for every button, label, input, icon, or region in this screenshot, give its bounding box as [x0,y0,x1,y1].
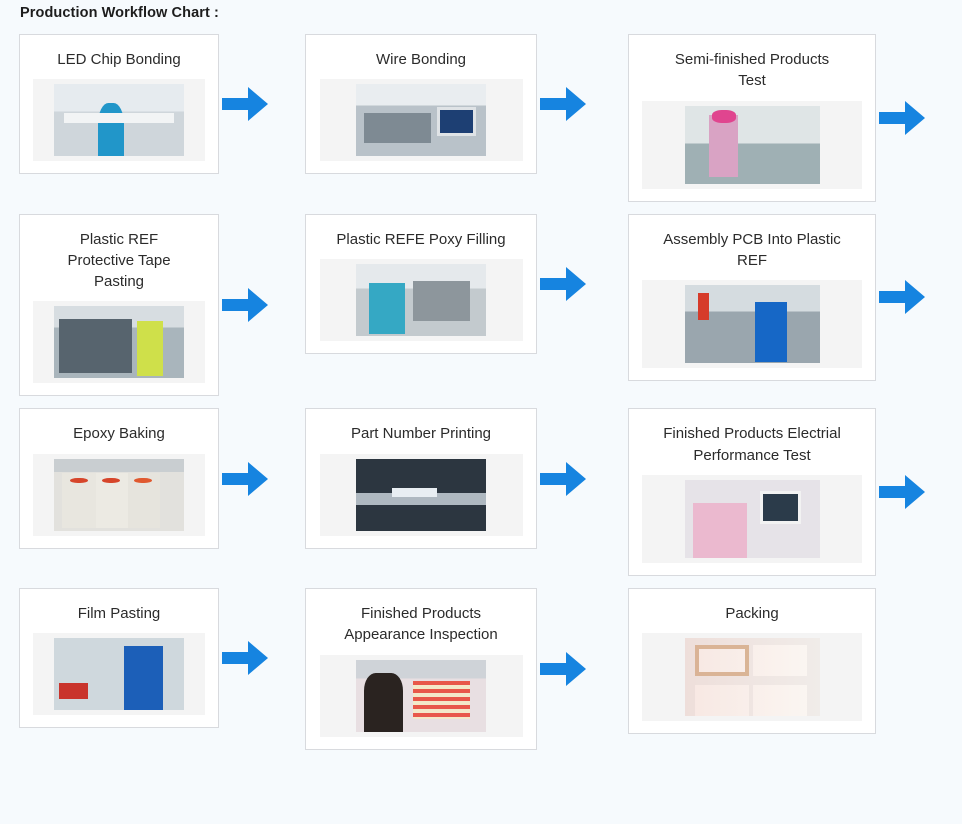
process-photo-appearance-inspection [356,660,486,732]
step-label: Finished Products Electrial Performance … [655,423,849,466]
step-card[interactable]: Semi-finished Products Test [628,34,876,202]
step-thumbnail [320,655,523,737]
workflow-step[interactable]: Epoxy Baking [0,408,300,548]
arrow-right-icon [537,457,589,501]
workflow-step[interactable]: Finished Products Appearance Inspection [300,588,620,750]
workflow-step[interactable]: Wire Bonding [300,34,620,174]
arrow-right-icon [219,636,271,680]
step-label: Plastic REF Protective Tape Pasting [59,229,178,293]
arrow-right-icon [876,96,928,140]
step-card[interactable]: Packing [628,588,876,734]
step-thumbnail [320,454,523,536]
step-thumbnail [320,259,523,341]
process-photo-epoxy-filling [356,264,486,336]
step-thumbnail [33,301,205,383]
step-thumbnail [33,633,205,715]
workflow-chart: LED Chip Bonding Wire Bonding Se [0,34,962,762]
step-thumbnail [642,101,862,189]
arrow-right-icon [219,457,271,501]
step-card[interactable]: Film Pasting [19,588,219,728]
step-card[interactable]: Finished Products Appearance Inspection [305,588,537,750]
process-photo-protective-tape-pasting [54,306,184,378]
process-photo-electrical-performance-test [685,480,820,558]
step-thumbnail [642,280,862,368]
step-label: LED Chip Bonding [49,49,188,70]
arrow-right-icon [537,262,589,306]
step-card[interactable]: Assembly PCB Into Plastic REF [628,214,876,382]
process-photo-epoxy-baking [54,459,184,531]
step-label: Finished Products Appearance Inspection [336,603,505,646]
arrow-right-icon [537,82,589,126]
workflow-step[interactable]: Plastic REFE Poxy Filling [300,214,620,354]
step-card[interactable]: Wire Bonding [305,34,537,174]
arrow-right-icon [876,470,928,514]
workflow-step[interactable]: Packing [620,588,962,734]
step-label: Epoxy Baking [65,423,173,444]
arrow-right-icon [537,647,589,691]
arrow-right-icon [219,82,271,126]
step-thumbnail [33,79,205,161]
process-photo-led-chip-bonding [54,84,184,156]
workflow-step[interactable]: Plastic REF Protective Tape Pasting [0,214,300,397]
process-photo-part-number-printing [356,459,486,531]
step-card[interactable]: LED Chip Bonding [19,34,219,174]
step-label: Film Pasting [70,603,169,624]
workflow-step[interactable]: Part Number Printing [300,408,620,548]
step-card[interactable]: Finished Products Electrial Performance … [628,408,876,576]
step-thumbnail [642,475,862,563]
page-title: Production Workflow Chart : [20,5,219,21]
workflow-row: Plastic REF Protective Tape Pasting Plas… [0,214,962,397]
process-photo-film-pasting [54,638,184,710]
step-card[interactable]: Plastic REFE Poxy Filling [305,214,537,354]
step-label: Plastic REFE Poxy Filling [328,229,513,250]
step-label: Packing [717,603,786,624]
step-label: Part Number Printing [343,423,499,444]
process-photo-packing [685,638,820,716]
step-thumbnail [642,633,862,721]
step-thumbnail [320,79,523,161]
step-label: Wire Bonding [368,49,474,70]
workflow-step[interactable]: Film Pasting [0,588,300,728]
arrow-placeholder [876,639,928,683]
workflow-step[interactable]: Assembly PCB Into Plastic REF [620,214,962,382]
process-photo-assembly-pcb [685,285,820,363]
workflow-row: LED Chip Bonding Wire Bonding Se [0,34,962,202]
step-thumbnail [33,454,205,536]
workflow-step[interactable]: LED Chip Bonding [0,34,300,174]
step-card[interactable]: Part Number Printing [305,408,537,548]
process-photo-wire-bonding [356,84,486,156]
workflow-row: Epoxy Baking Part Number Printing [0,408,962,576]
process-photo-semi-finished-test [685,106,820,184]
step-label: Assembly PCB Into Plastic REF [655,229,849,272]
step-card[interactable]: Epoxy Baking [19,408,219,548]
step-card[interactable]: Plastic REF Protective Tape Pasting [19,214,219,397]
arrow-right-icon [876,275,928,319]
workflow-row: Film Pasting Finished Products Appearanc… [0,588,962,750]
workflow-step[interactable]: Semi-finished Products Test [620,34,962,202]
workflow-step[interactable]: Finished Products Electrial Performance … [620,408,962,576]
arrow-right-icon [219,283,271,327]
step-label: Semi-finished Products Test [667,49,837,92]
